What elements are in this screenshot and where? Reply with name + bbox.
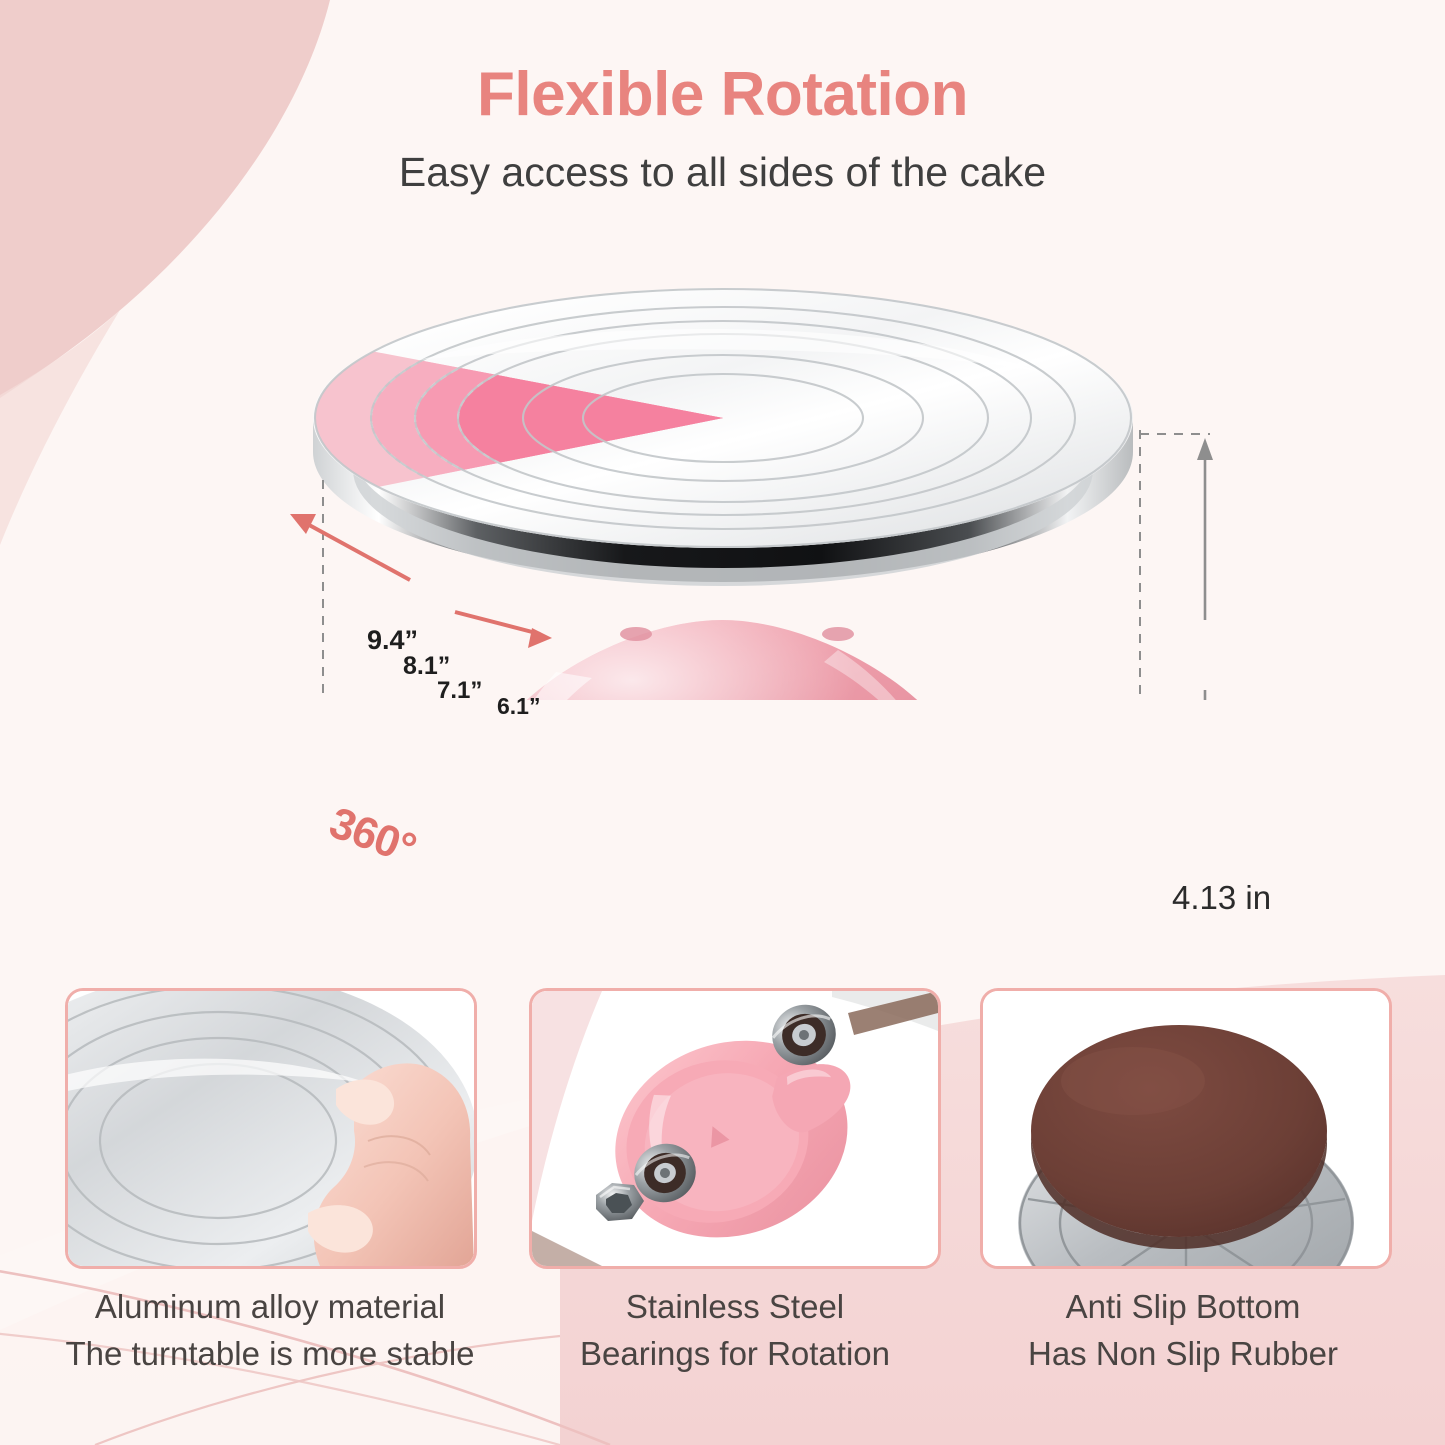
rotation-label: 360° [323, 798, 422, 875]
caption-line: Aluminum alloy material [35, 1284, 505, 1331]
caption-line: The turntable is more stable [35, 1331, 505, 1378]
rotation-arrow-down-head [528, 628, 552, 648]
feature-card-antislip[interactable] [980, 988, 1392, 1269]
page-title: Flexible Rotation [0, 62, 1445, 127]
rubber-gloss [1061, 1047, 1205, 1115]
size-label-7-1: 7.1” [437, 677, 482, 705]
aluminum-plate-with-hand-image [68, 991, 474, 1266]
rotation-arrow-down [455, 612, 540, 634]
caption-line: Stainless Steel [500, 1284, 970, 1331]
base-screw-left [620, 627, 652, 641]
caption-antislip: Anti Slip Bottom Has Non Slip Rubber [948, 1284, 1418, 1378]
feature-card-bearings[interactable] [529, 988, 941, 1269]
infographic-page: Flexible Rotation Easy access to all sid… [0, 0, 1445, 1445]
product-plate [313, 288, 1133, 586]
pink-base-with-steel-bearings-image [532, 991, 938, 1266]
caption-line: Anti Slip Bottom [948, 1284, 1418, 1331]
feature-card-aluminum[interactable] [65, 988, 477, 1269]
height-arrow-head-up [1197, 438, 1213, 460]
caption-bearings: Stainless Steel Bearings for Rotation [500, 1284, 970, 1378]
caption-line: Has Non Slip Rubber [948, 1331, 1418, 1378]
feature-cards [0, 988, 1445, 1273]
size-label-6-1: 6.1” [497, 693, 540, 720]
hero-product-illustration: 9.4” 8.1” 7.1” 6.1” 360° 4.13 in 9.84 in [0, 250, 1445, 950]
rotation-arrow-up-head [290, 514, 316, 534]
page-subtitle: Easy access to all sides of the cake [0, 149, 1445, 196]
product-base [472, 620, 973, 700]
base-screw-right [822, 627, 854, 641]
brown-rubber-anti-slip-bottom-image [983, 991, 1389, 1266]
height-dimension-label: 4.13 in [1172, 879, 1271, 917]
caption-aluminum: Aluminum alloy material The turntable is… [35, 1284, 505, 1378]
caption-line: Bearings for Rotation [500, 1331, 970, 1378]
header: Flexible Rotation Easy access to all sid… [0, 62, 1445, 196]
